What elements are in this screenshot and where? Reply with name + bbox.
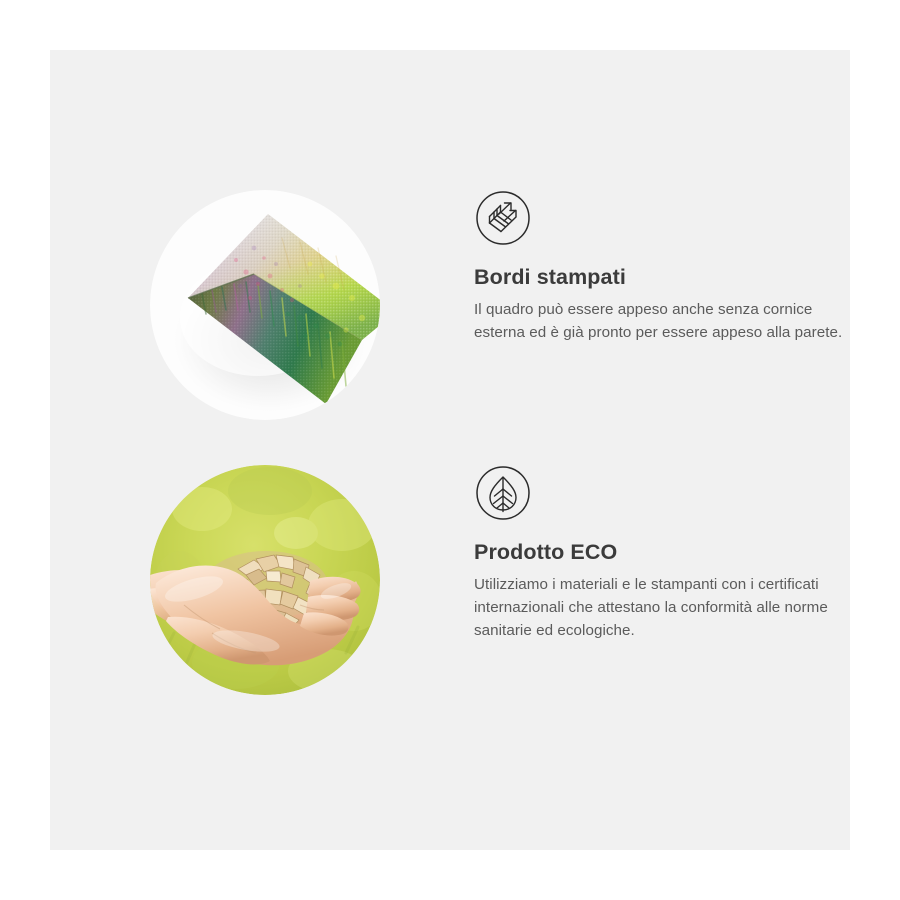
canvas-edge-arrows-icon [475,190,531,246]
printed-edges-text-column: Bordi stampati Il quadro può essere appe… [474,190,850,344]
content-panel: Bordi stampati Il quadro può essere appe… [50,50,850,850]
hands-wood-chips-photo [150,465,380,695]
feature-description: Il quadro può essere appeso anche senza … [474,298,844,344]
feature-printed-edges: Bordi stampati Il quadro può essere appe… [150,190,850,430]
canvas-corner-photo [150,190,380,420]
feature-title: Prodotto ECO [474,540,850,565]
product-info-page: Bordi stampati Il quadro può essere appe… [0,0,900,900]
leaf-icon [475,465,531,521]
eco-product-text-column: Prodotto ECO Utilizziamo i materiali e l… [474,465,850,642]
feature-description: Utilizziamo i materiali e le stampanti c… [474,573,844,642]
feature-title: Bordi stampati [474,265,850,290]
feature-eco-product: Prodotto ECO Utilizziamo i materiali e l… [150,465,850,705]
